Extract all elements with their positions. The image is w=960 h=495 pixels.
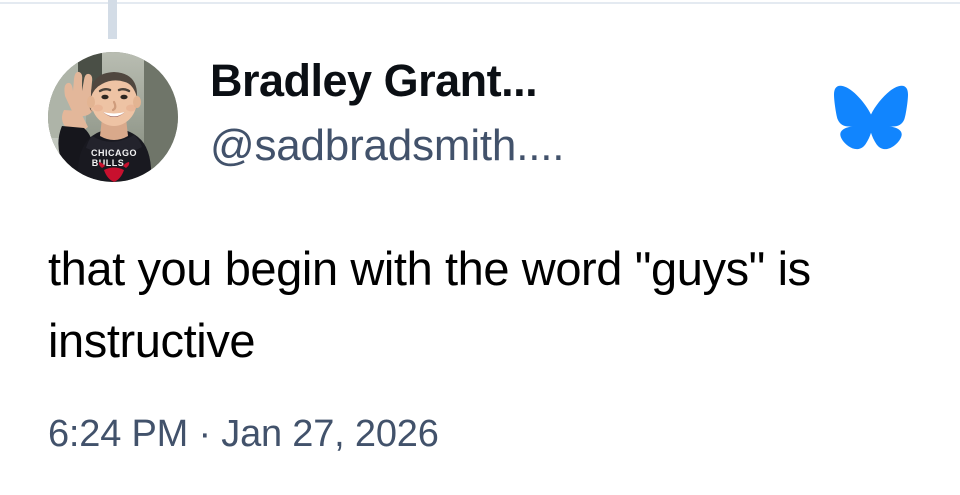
post-header: CHICAGO BULLS Bradley Grant... @sadbrads… (0, 0, 960, 200)
svg-text:BULLS: BULLS (92, 158, 125, 168)
bluesky-post-card: CHICAGO BULLS Bradley Grant... @sadbrads… (0, 0, 960, 495)
author-display-name[interactable]: Bradley Grant... (210, 54, 810, 108)
avatar[interactable]: CHICAGO BULLS (48, 52, 178, 182)
author-handle[interactable]: @sadbradsmith.... (210, 118, 810, 174)
post-timestamp[interactable]: 6:24 PM · Jan 27, 2026 (48, 410, 439, 458)
butterfly-icon (834, 82, 908, 152)
post-text: that you begin with the word "guys" is i… (48, 233, 878, 377)
svg-text:CHICAGO: CHICAGO (91, 148, 137, 158)
author-block[interactable]: Bradley Grant... @sadbradsmith.... (210, 54, 810, 174)
